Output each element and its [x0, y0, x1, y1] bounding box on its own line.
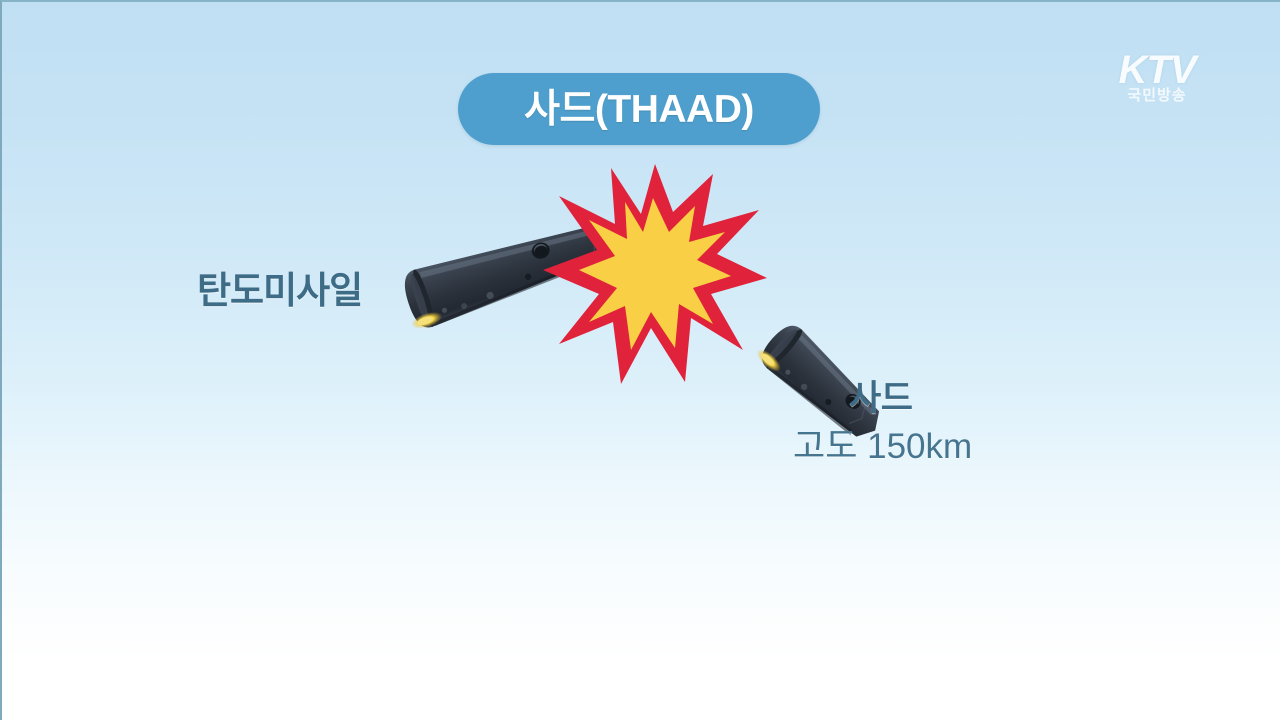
label-thaad-interceptor: 사드: [849, 381, 912, 418]
ballistic-missile-icon: [395, 208, 623, 333]
label-ballistic-missile: 탄도미사일: [197, 272, 362, 311]
title-banner-label: 사드(THAAD): [524, 90, 754, 129]
ktv-logo-mark: KTV: [1082, 50, 1232, 90]
broadcast-graphic-frame: 사드(THAAD) KTV 국민방송 탄도미사일 사드 고도 150km: [0, 0, 1280, 720]
explosion-burst-icon: [543, 164, 767, 384]
ktv-channel-logo: KTV 국민방송: [1082, 50, 1232, 110]
ktv-logo-subtitle: 국민방송: [1082, 87, 1232, 104]
label-thaad-altitude: 고도 150km: [793, 429, 972, 466]
title-banner: 사드(THAAD): [458, 73, 820, 145]
